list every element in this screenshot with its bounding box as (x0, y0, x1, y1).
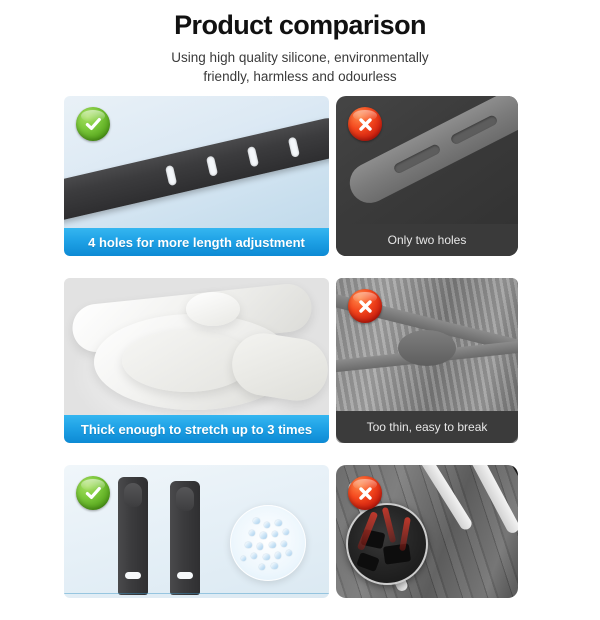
burnt-magnifier (346, 503, 428, 585)
tag-hole (125, 572, 141, 579)
good-caption-holes: 4 holes for more length adjustment (64, 228, 329, 256)
page-header: Product comparison Using high quality si… (0, 0, 600, 86)
silicone-pellet (245, 542, 252, 548)
tag-knob (176, 487, 194, 511)
silicone-pellet (263, 554, 270, 560)
tag-knob (124, 483, 142, 507)
check-badge (76, 107, 110, 141)
silicone-pellet (283, 529, 289, 535)
page-subtitle: Using high quality silicone, environment… (0, 48, 600, 86)
char-fragment (356, 552, 380, 572)
good-panel-thickness: Thick enough to stretch up to 3 times (64, 278, 329, 443)
bad-caption-thickness: Too thin, easy to break (336, 411, 518, 443)
tag-hole (177, 572, 193, 579)
strap-hole (165, 165, 177, 186)
strap-tag (170, 481, 200, 595)
comparison-row-holes: 4 holes for more length adjustment Only … (0, 96, 600, 256)
strap-hole (206, 155, 218, 176)
good-caption-thickness: Thick enough to stretch up to 3 times (64, 415, 329, 443)
silicone-pellet (260, 532, 267, 539)
silicone-pellet (272, 531, 278, 537)
subtitle-line-1: Using high quality silicone, environment… (171, 50, 428, 65)
strap-slot (450, 114, 499, 146)
silicone-pellet (249, 530, 255, 536)
cross-badge (348, 107, 382, 141)
cross-badge (348, 289, 382, 323)
strap-slot (392, 143, 441, 175)
comparison-row-thickness: Thick enough to stretch up to 3 times To… (0, 278, 600, 443)
silicone-pellet (281, 541, 287, 547)
bad-panel-holes: Only two holes (336, 96, 518, 256)
silicone-pellet (264, 522, 270, 528)
silicone-pellet (286, 550, 292, 556)
bad-panel-material (336, 465, 518, 598)
silicone-pellet (269, 542, 276, 548)
good-panel-holes: 4 holes for more length adjustment (64, 96, 329, 256)
strap-hole (288, 137, 300, 158)
subtitle-line-2: friendly, harmless and odourless (203, 69, 396, 84)
strap-tag (118, 477, 148, 595)
silicone-pellet (275, 552, 281, 559)
silicone-pellet (253, 518, 260, 524)
silicone-pellet (275, 520, 282, 526)
cross-badge (348, 476, 382, 510)
water-line (64, 593, 329, 595)
silicone-pellet (259, 564, 265, 570)
bad-panel-thickness: Too thin, easy to break (336, 278, 518, 443)
char-fragment (383, 543, 411, 564)
bad-caption-holes: Only two holes (336, 224, 518, 256)
silicone-pellet (251, 553, 257, 559)
silicone-pellet (271, 563, 278, 569)
silicone-pellet (241, 556, 246, 561)
good-panel-material (64, 465, 329, 598)
comparison-grid: 4 holes for more length adjustment Only … (0, 96, 600, 620)
silicone-knob (186, 292, 240, 326)
pellets-magnifier (230, 505, 306, 581)
page-title: Product comparison (0, 8, 600, 42)
thin-strap-knob (398, 330, 456, 366)
strap-hole (247, 146, 259, 167)
silicone-pellet (257, 543, 263, 550)
comparison-row-material (0, 465, 600, 598)
check-badge (76, 476, 110, 510)
